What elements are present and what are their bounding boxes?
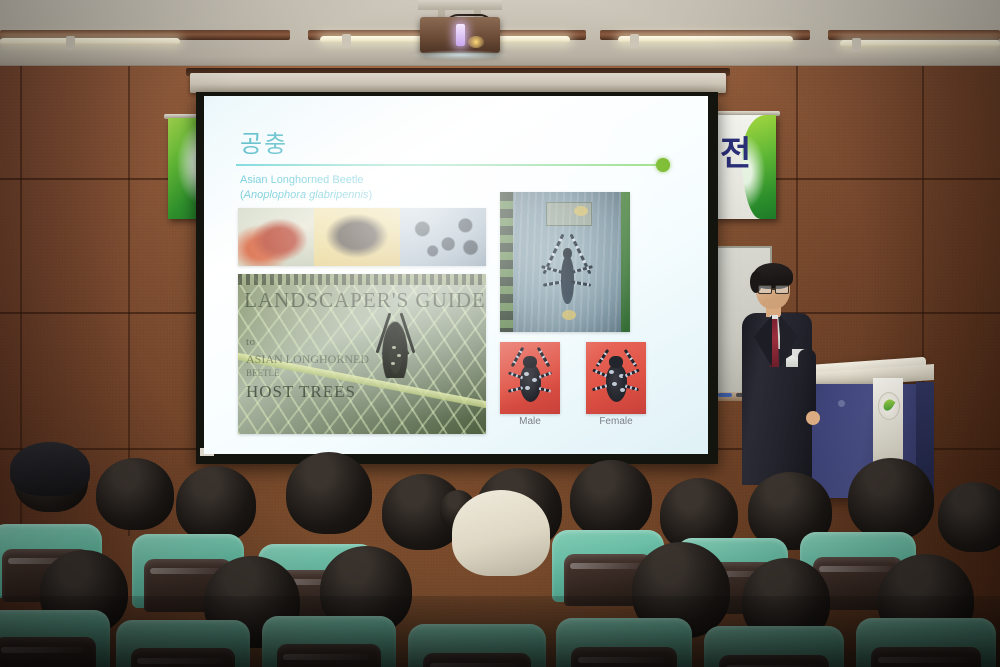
male-spot-1 bbox=[524, 372, 529, 376]
lecture-hall-photo: 전 공충 Asian Longhorned Beetle (Anoplophor… bbox=[0, 0, 1000, 667]
guide-beetle-spot-3 bbox=[391, 362, 395, 365]
audience-head bbox=[176, 466, 256, 542]
male-beetle-head bbox=[523, 356, 537, 368]
wall-banner-right: 전 bbox=[714, 115, 776, 219]
guide-beetle-body bbox=[389, 330, 402, 374]
female-beetle-illustration bbox=[600, 352, 632, 404]
male-antenna-left bbox=[511, 347, 525, 368]
audience-head bbox=[848, 458, 934, 540]
seat-highlight bbox=[570, 563, 642, 569]
light-bracket-2 bbox=[342, 34, 351, 48]
slide-rule-dot-icon bbox=[656, 158, 670, 172]
seat-highlight bbox=[150, 568, 222, 574]
guide-line-host-trees: HOST TREES bbox=[246, 382, 356, 402]
audience-cap-dark bbox=[10, 442, 90, 496]
screen-housing bbox=[190, 73, 726, 93]
glasses-lens-left-icon bbox=[758, 285, 772, 294]
audience-head bbox=[96, 458, 174, 530]
presenter-hand bbox=[806, 411, 820, 425]
trunk-leaf-1 bbox=[574, 206, 588, 216]
photo-female-beetle bbox=[586, 342, 646, 414]
trunk-beetle-leg-right2 bbox=[571, 280, 591, 286]
slide-title: 공충 bbox=[240, 124, 288, 159]
slide-subtitle-scientific-name: (Anoplophora glabripennis) bbox=[240, 189, 372, 201]
guide-beetle-antenna-right bbox=[400, 313, 416, 354]
ceiling-light-far-right bbox=[840, 40, 1000, 47]
trunk-photo-right-edge bbox=[621, 192, 630, 332]
light-bracket-4 bbox=[852, 38, 861, 52]
audience-head bbox=[570, 460, 652, 538]
guide-beetle-spot-1 bbox=[392, 346, 396, 349]
trunk-beetle-illustration bbox=[550, 240, 584, 310]
slide-title-rule bbox=[236, 164, 666, 166]
projector-light-halo bbox=[412, 50, 508, 60]
female-label: Female bbox=[586, 416, 646, 427]
photo-male-beetle bbox=[500, 342, 560, 414]
lectern-knob-2 bbox=[838, 400, 845, 407]
slide: 공충 Asian Longhorned Beetle (Anoplophora … bbox=[204, 96, 708, 454]
guide-heading: LANDSCAPER'S GUIDE bbox=[244, 288, 486, 313]
photo-maple-leaf-damage bbox=[238, 208, 314, 266]
marker-blue-icon bbox=[718, 393, 732, 397]
slide-subtitle-common-name: Asian Longhorned Beetle bbox=[240, 174, 364, 186]
male-beetle-illustration bbox=[514, 352, 546, 404]
ceiling-light-left bbox=[0, 38, 180, 45]
trunk-beetle-head bbox=[563, 248, 572, 259]
light-bracket-3 bbox=[630, 34, 639, 48]
photo-beetle-on-tree-trunk bbox=[500, 192, 630, 332]
guide-line-species2: BEETLE bbox=[246, 368, 280, 378]
trunk-beetle-leg-left2 bbox=[543, 280, 563, 286]
female-spot-4 bbox=[620, 388, 625, 392]
photo-landscapers-guide-cover: LANDSCAPER'S GUIDE to ASIAN LONGHORNED B… bbox=[238, 274, 486, 434]
guide-line-species: ASIAN LONGHORNED bbox=[246, 352, 369, 367]
female-antenna-right bbox=[624, 349, 638, 367]
foreground-shadow bbox=[0, 596, 1000, 667]
trunk-photo-left-edge bbox=[500, 192, 513, 332]
projection-screen: 공충 Asian Longhorned Beetle (Anoplophora … bbox=[204, 96, 708, 454]
glasses-lens-right-icon bbox=[775, 285, 789, 294]
female-spot-3 bbox=[612, 382, 617, 386]
seat-highlight bbox=[819, 566, 893, 572]
projector-lens-icon bbox=[456, 24, 465, 46]
audience-cap-beige bbox=[452, 490, 550, 576]
photo-beetle-larva bbox=[314, 208, 400, 266]
female-spot-1 bbox=[609, 370, 614, 374]
guide-beetle-head bbox=[391, 322, 400, 333]
male-antenna-right bbox=[537, 347, 551, 368]
audience-head bbox=[938, 482, 1000, 552]
projector-glow bbox=[468, 36, 484, 48]
ceiling-light-right bbox=[618, 36, 793, 43]
slide-photo-strip bbox=[238, 208, 486, 266]
light-bracket-1 bbox=[66, 36, 75, 50]
species-binomial: Anoplophora glabripennis bbox=[244, 189, 369, 201]
female-beetle-head bbox=[609, 356, 623, 368]
photo-exit-holes-in-bark bbox=[400, 208, 486, 266]
female-antenna-left bbox=[596, 349, 610, 367]
male-beetle-body bbox=[520, 364, 541, 402]
audience-head bbox=[286, 452, 372, 534]
presenter-arm bbox=[798, 349, 816, 419]
guide-beetle-illustration bbox=[380, 316, 410, 378]
banner-right-label: 전 bbox=[720, 137, 751, 171]
glasses-bridge-icon bbox=[771, 288, 776, 290]
male-label: Male bbox=[500, 416, 560, 427]
trunk-leaf-2 bbox=[562, 310, 576, 320]
guide-line-to: to bbox=[246, 336, 256, 348]
guide-beetle-spot-2 bbox=[397, 354, 401, 357]
projector-mount-plate bbox=[418, 0, 502, 10]
paren-close: ) bbox=[368, 189, 372, 201]
guide-top-band bbox=[238, 274, 486, 285]
male-spot-3 bbox=[525, 386, 530, 390]
